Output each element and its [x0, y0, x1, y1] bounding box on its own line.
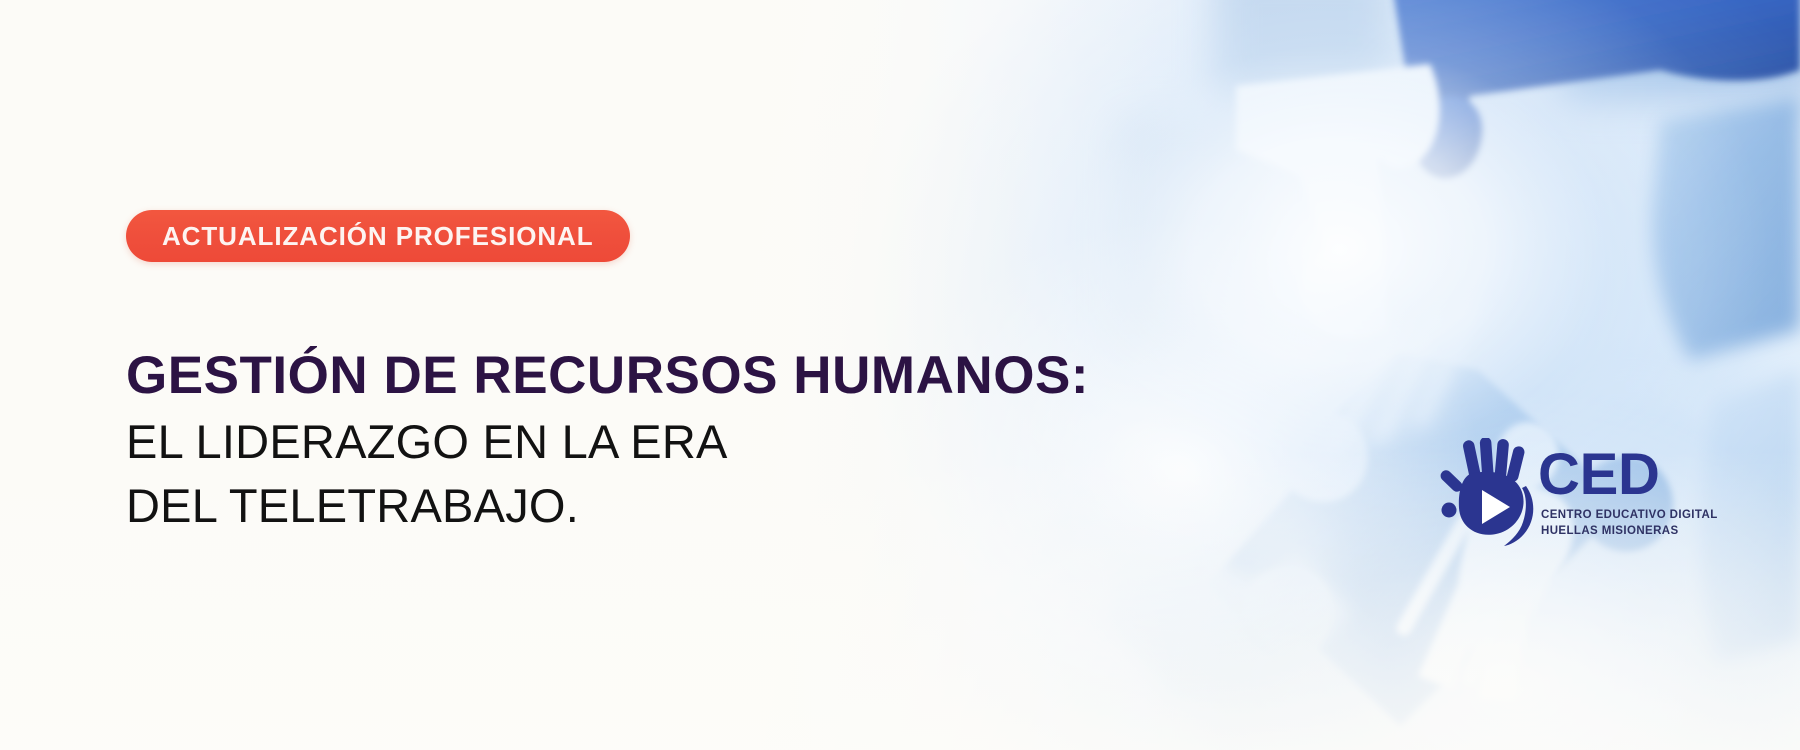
logo-tagline-line-1: CENTRO EDUCATIVO DIGITAL — [1541, 508, 1718, 524]
category-badge: ACTUALIZACIÓN PROFESIONAL — [126, 210, 630, 262]
subtitle: EL LIDERAZGO EN LA ERA DEL TELETRABAJO. — [126, 410, 728, 538]
category-badge-label: ACTUALIZACIÓN PROFESIONAL — [162, 223, 594, 249]
handprint-play-icon — [1440, 438, 1542, 546]
logo-tagline-line-2: HUELLAS MISIONERAS — [1541, 524, 1718, 540]
ced-logo: CED CENTRO EDUCATIVO DIGITAL HUELLAS MIS… — [1440, 438, 1700, 550]
promo-banner: ACTUALIZACIÓN PROFESIONAL GESTIÓN DE REC… — [0, 0, 1800, 750]
subtitle-line-2: DEL TELETRABAJO. — [126, 474, 728, 538]
page-title: GESTIÓN DE RECURSOS HUMANOS: — [126, 348, 1089, 403]
logo-tagline: CENTRO EDUCATIVO DIGITAL HUELLAS MISIONE… — [1541, 508, 1718, 540]
logo-wordmark: CED — [1538, 446, 1660, 504]
banner-content: ACTUALIZACIÓN PROFESIONAL GESTIÓN DE REC… — [126, 0, 1306, 750]
subtitle-line-1: EL LIDERAZGO EN LA ERA — [126, 410, 728, 474]
